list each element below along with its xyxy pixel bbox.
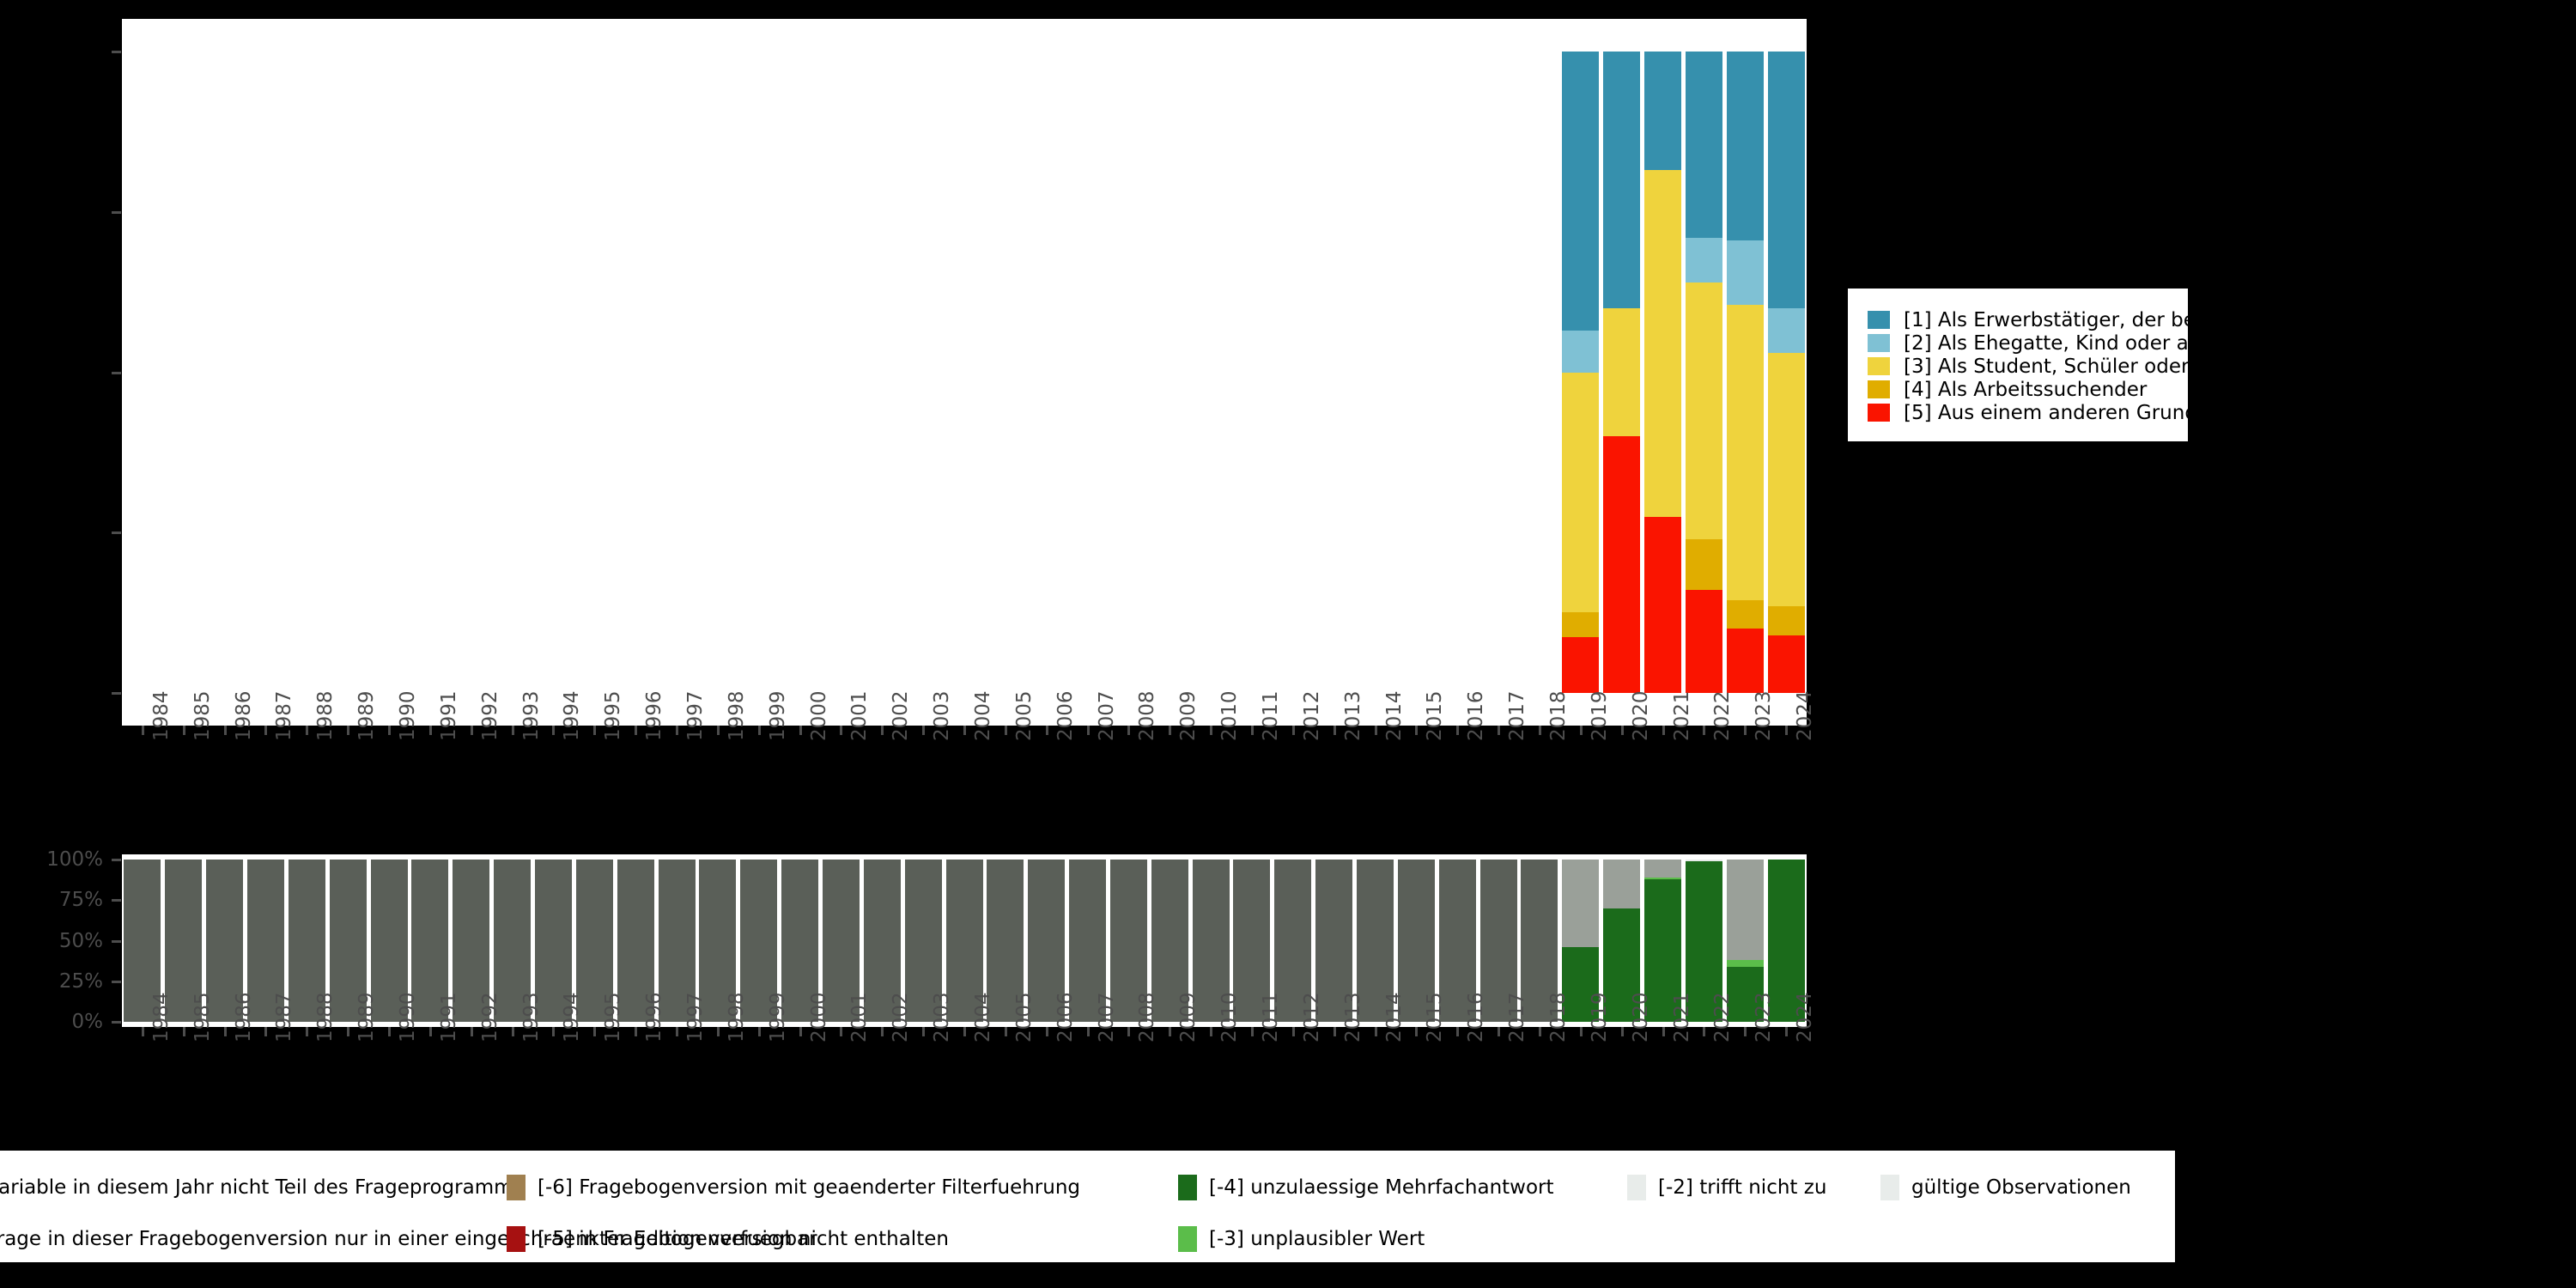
x-axis-tick-label: 2002: [890, 690, 912, 741]
obs-x-axis-tick-label: 1993: [520, 992, 543, 1042]
x-axis-tick-label: 2020: [1630, 690, 1652, 741]
obs-x-axis-tick-label: 2004: [972, 992, 994, 1042]
obs-x-axis-tick-mark: [1621, 1027, 1624, 1036]
legend-swatch-icon: [1178, 1226, 1197, 1252]
value-legend-label: [4] Als Arbeitssuchender: [1904, 379, 2147, 401]
obs-x-axis-tick-label: 1996: [643, 992, 665, 1042]
x-axis-tick-label: 1990: [397, 690, 419, 741]
obs-y-axis-tick-label: 100%: [0, 848, 103, 871]
x-axis-tick-label: 1998: [726, 690, 748, 741]
status-legend-label: [-4] unzulaessige Mehrfachantwort: [1209, 1176, 1554, 1199]
x-axis-tick-mark: [1539, 726, 1541, 735]
x-axis-tick-label: 2011: [1260, 690, 1282, 741]
value-bar-segment: [1727, 629, 1764, 693]
status-legend-label: gültige Observationen: [1911, 1176, 2131, 1199]
obs-x-axis-tick-label: 2005: [1013, 992, 1036, 1042]
value-legend: [1] Als Erwerbstätiger, der bereits eine…: [1848, 289, 2188, 441]
obs-x-axis-tick-mark: [840, 1027, 842, 1036]
x-axis-tick-label: 2012: [1301, 690, 1323, 741]
status-legend-label: [-3] unplausibler Wert: [1209, 1228, 1425, 1250]
status-bar-segment: [1562, 860, 1599, 947]
x-axis-tick-mark: [1744, 726, 1747, 735]
x-axis-tick-label: 2017: [1506, 690, 1528, 741]
x-axis-tick-mark: [512, 726, 514, 735]
x-axis-tick-label: 2003: [931, 690, 953, 741]
obs-x-axis-tick-mark: [1785, 1027, 1788, 1036]
obs-y-axis-tick-label: 75%: [0, 889, 103, 911]
status-legend-label: [-7] Variable in diesem Jahr nicht Teil …: [0, 1176, 523, 1199]
x-axis-tick-mark: [676, 726, 678, 735]
obs-x-axis-tick-mark: [552, 1027, 555, 1036]
obs-x-axis-tick-mark: [1087, 1027, 1090, 1036]
observation-status-chart: 100%75%50%25%0% 198419851986198719881989…: [0, 824, 1838, 1108]
obs-x-axis-tick-mark: [1375, 1027, 1377, 1036]
x-axis-tick-mark: [142, 726, 144, 735]
obs-x-axis-tick-mark: [1662, 1027, 1665, 1036]
obs-x-axis-tick-mark: [429, 1027, 432, 1036]
obs-x-axis-tick-label: 1994: [561, 992, 583, 1042]
obs-x-axis-tick-label: 2020: [1630, 992, 1652, 1042]
x-axis-tick-mark: [1210, 726, 1212, 735]
value-bar-segment: [1727, 600, 1764, 629]
x-axis-tick-label: 1984: [150, 690, 173, 741]
obs-x-axis-tick-label: 1995: [602, 992, 624, 1042]
obs-x-axis-tick-mark: [1415, 1027, 1418, 1036]
x-axis-tick-mark: [1087, 726, 1090, 735]
value-bar: [1603, 52, 1640, 693]
obs-x-axis-tick-mark: [1292, 1027, 1295, 1036]
x-axis-tick-label: 2021: [1671, 690, 1693, 741]
obs-y-axis-tick-label: 50%: [0, 930, 103, 952]
value-bar-segment: [1686, 539, 1722, 591]
status-legend-item[interactable]: [-3] unplausibler Wert: [1178, 1226, 1425, 1252]
value-bar-segment: [1562, 52, 1599, 331]
value-bar-segment: [1768, 635, 1805, 693]
x-axis-tick-label: 2009: [1177, 690, 1200, 741]
x-axis-tick-label: 1985: [191, 690, 214, 741]
value-legend-item[interactable]: [4] Als Arbeitssuchender: [1868, 379, 2147, 400]
legend-swatch-icon: [1868, 311, 1890, 329]
legend-swatch-icon: [1627, 1175, 1646, 1200]
x-axis-tick-label: 2023: [1753, 690, 1775, 741]
x-axis-tick-mark: [1292, 726, 1295, 735]
x-axis-tick-mark: [552, 726, 555, 735]
x-axis-tick-label: 1986: [233, 690, 255, 741]
obs-x-axis-tick-mark: [1210, 1027, 1212, 1036]
value-bar-segment: [1768, 308, 1805, 353]
obs-x-axis-tick-label: 2002: [890, 992, 912, 1042]
x-axis-tick-mark: [1498, 726, 1500, 735]
y-axis-tick-mark: [112, 211, 121, 214]
obs-x-axis-tick-label: 2008: [1136, 992, 1158, 1042]
value-bar-segment: [1686, 52, 1722, 238]
x-axis-tick-label: 2004: [972, 690, 994, 741]
status-bar-segment: [1727, 860, 1764, 960]
x-axis-tick-label: 2007: [1096, 690, 1118, 741]
obs-x-axis-tick-mark: [799, 1027, 802, 1036]
x-axis-tick-mark: [593, 726, 596, 735]
value-legend-label: [3] Als Student, Schüler oder Auszubilde…: [1904, 355, 2348, 378]
value-bar-segment: [1644, 52, 1681, 170]
x-axis-tick-label: 2006: [1054, 690, 1077, 741]
value-bar-segment: [1686, 283, 1722, 539]
legend-swatch-icon: [507, 1175, 526, 1200]
obs-x-axis-tick-mark: [1539, 1027, 1541, 1036]
x-axis-tick-mark: [388, 726, 391, 735]
status-legend-item[interactable]: gültige Observationen: [1880, 1175, 2131, 1200]
obs-x-axis-tick-label: 2017: [1506, 992, 1528, 1042]
obs-x-axis-tick-label: 2009: [1177, 992, 1200, 1042]
x-axis-tick-label: 1993: [520, 690, 543, 741]
legend-swatch-icon: [1868, 380, 1890, 398]
obs-x-axis-tick-mark: [183, 1027, 185, 1036]
obs-x-axis-tick-mark: [1703, 1027, 1705, 1036]
x-axis-tick-label: 1992: [479, 690, 501, 741]
legend-swatch-icon: [1868, 334, 1890, 352]
obs-x-axis-tick-mark: [963, 1027, 966, 1036]
obs-x-axis-tick-label: 2015: [1424, 992, 1446, 1042]
obs-y-axis-tick-mark: [112, 981, 121, 983]
obs-x-axis-tick-label: 1998: [726, 992, 748, 1042]
x-axis-tick-mark: [1662, 726, 1665, 735]
x-axis-tick-mark: [1005, 726, 1007, 735]
x-axis-tick-mark: [1251, 726, 1254, 735]
obs-x-axis-tick-label: 1985: [191, 992, 214, 1042]
obs-x-axis-tick-label: 2019: [1589, 992, 1611, 1042]
value-bar-segment: [1686, 238, 1722, 283]
obs-x-axis-tick-mark: [306, 1027, 308, 1036]
legend-swatch-icon: [507, 1226, 526, 1252]
x-axis-tick-label: 2015: [1424, 690, 1446, 741]
obs-x-axis-tick-mark: [758, 1027, 761, 1036]
x-axis-tick-mark: [471, 726, 473, 735]
obs-y-axis-tick-mark: [112, 940, 121, 943]
x-axis-tick-label: 1995: [602, 690, 624, 741]
x-axis-tick-mark: [264, 726, 267, 735]
obs-x-axis-tick-label: 1988: [314, 992, 337, 1042]
obs-x-axis-tick-mark: [593, 1027, 596, 1036]
obs-x-axis-tick-mark: [264, 1027, 267, 1036]
value-bar-segment: [1603, 52, 1640, 308]
status-bar-segment: [1686, 860, 1722, 861]
obs-y-axis-tick-label: 0%: [0, 1011, 103, 1033]
status-legend-item[interactable]: [-4] unzulaessige Mehrfachantwort: [1178, 1175, 1554, 1200]
x-axis-tick-mark: [922, 726, 925, 735]
obs-x-axis-tick-label: 1999: [767, 992, 789, 1042]
value-legend-item[interactable]: [1] Als Erwerbstätiger, der bereits eine…: [1868, 309, 2452, 331]
obs-x-axis-tick-mark: [347, 1027, 349, 1036]
x-axis-tick-mark: [840, 726, 842, 735]
obs-x-axis-tick-label: 1992: [479, 992, 501, 1042]
x-axis-tick-label: 1999: [767, 690, 789, 741]
x-axis-tick-label: 1987: [273, 690, 295, 741]
x-axis-tick-label: 2014: [1383, 690, 1406, 741]
value-bar-segment: [1686, 590, 1722, 693]
value-bar: [1768, 52, 1805, 693]
main-bars-container: [122, 19, 1807, 726]
obs-x-axis-tick-label: 2024: [1794, 992, 1816, 1042]
x-axis-tick-mark: [1169, 726, 1171, 735]
status-legend-item[interactable]: [-2] trifft nicht zu: [1627, 1175, 1826, 1200]
x-axis-tick-label: 2022: [1711, 690, 1734, 741]
legend-swatch-icon: [1868, 404, 1890, 422]
obs-x-axis-tick-mark: [1046, 1027, 1048, 1036]
obs-x-axis-tick-mark: [922, 1027, 925, 1036]
value-bar-segment: [1562, 373, 1599, 612]
x-axis-tick-mark: [1415, 726, 1418, 735]
y-axis-tick-mark: [112, 532, 121, 534]
obs-y-axis-tick-mark: [112, 899, 121, 902]
y-axis-tick-mark: [112, 372, 121, 374]
y-axis-tick-mark: [112, 51, 121, 53]
value-bar-segment: [1768, 52, 1805, 308]
obs-x-axis-tick-label: 2000: [808, 992, 830, 1042]
x-axis-tick-mark: [306, 726, 308, 735]
value-bar-segment: [1562, 612, 1599, 637]
obs-x-axis-tick-mark: [1334, 1027, 1336, 1036]
obs-x-axis-tick-mark: [635, 1027, 637, 1036]
status-bar-segment: [1727, 960, 1764, 967]
obs-x-axis-tick-label: 2014: [1383, 992, 1406, 1042]
x-axis-tick-label: 2001: [848, 690, 871, 741]
x-axis-tick-label: 1991: [438, 690, 460, 741]
obs-x-axis-tick-label: 1997: [684, 992, 707, 1042]
obs-x-axis-tick-mark: [512, 1027, 514, 1036]
status-legend-label: [-2] trifft nicht zu: [1658, 1176, 1826, 1199]
x-axis-tick-mark: [1785, 726, 1788, 735]
value-bar-segment: [1727, 240, 1764, 305]
obs-x-axis-tick-label: 2013: [1342, 992, 1364, 1042]
x-axis-tick-mark: [1334, 726, 1336, 735]
x-axis-tick-mark: [717, 726, 720, 735]
obs-x-axis-tick-label: 1989: [355, 992, 378, 1042]
x-axis-tick-mark: [1621, 726, 1624, 735]
obs-x-axis-tick-label: 2007: [1096, 992, 1118, 1042]
value-distribution-chart: 100%75%50%25%0% 198419851986198719881989…: [0, 0, 1838, 841]
x-axis-tick-label: 2000: [808, 690, 830, 741]
x-axis-tick-mark: [1456, 726, 1459, 735]
obs-x-axis-tick-mark: [717, 1027, 720, 1036]
obs-x-axis-tick-mark: [1456, 1027, 1459, 1036]
obs-x-axis-tick-mark: [1005, 1027, 1007, 1036]
x-axis-tick-label: 2005: [1013, 690, 1036, 741]
obs-x-axis-tick-label: 1991: [438, 992, 460, 1042]
obs-x-axis-tick-label: 2023: [1753, 992, 1775, 1042]
value-bar: [1562, 52, 1599, 693]
x-axis-tick-mark: [347, 726, 349, 735]
obs-y-axis-tick-mark: [112, 859, 121, 861]
x-axis-tick-mark: [1580, 726, 1583, 735]
obs-x-axis-tick-label: 2022: [1711, 992, 1734, 1042]
status-bar-segment: [1644, 860, 1681, 878]
obs-x-axis-tick-label: 2001: [848, 992, 871, 1042]
x-axis-tick-label: 2008: [1136, 690, 1158, 741]
value-bar-segment: [1644, 170, 1681, 516]
x-axis-tick-mark: [881, 726, 884, 735]
x-axis-tick-mark: [1127, 726, 1130, 735]
x-axis-tick-label: 1988: [314, 690, 337, 741]
x-axis-tick-label: 2024: [1794, 690, 1816, 741]
x-axis-tick-label: 2018: [1547, 690, 1570, 741]
x-axis-tick-mark: [758, 726, 761, 735]
value-bar-segment: [1603, 436, 1640, 693]
obs-x-axis-tick-label: 1986: [233, 992, 255, 1042]
obs-x-axis-tick-label: 2003: [931, 992, 953, 1042]
status-bar-segment: [1644, 878, 1681, 879]
x-axis-tick-label: 1996: [643, 690, 665, 741]
obs-x-axis-tick-mark: [1580, 1027, 1583, 1036]
obs-x-axis-tick-mark: [224, 1027, 227, 1036]
obs-x-axis-tick-mark: [388, 1027, 391, 1036]
value-legend-item[interactable]: [5] Aus einem anderen Grund: [1868, 402, 2197, 423]
status-legend-item[interactable]: [-7] Variable in diesem Jahr nicht Teil …: [0, 1175, 523, 1200]
value-legend-label: [5] Aus einem anderen Grund: [1904, 402, 2197, 424]
obs-x-axis-tick-mark: [676, 1027, 678, 1036]
status-legend-item[interactable]: [-5] in Fragebogenversion nicht enthalte…: [507, 1226, 949, 1252]
x-axis-tick-label: 1989: [355, 690, 378, 741]
value-legend-label: [1] Als Erwerbstätiger, der bereits eine…: [1904, 309, 2452, 331]
obs-x-axis-tick-mark: [471, 1027, 473, 1036]
x-axis-tick-mark: [635, 726, 637, 735]
obs-x-axis-tick-label: 2018: [1547, 992, 1570, 1042]
obs-x-axis-tick-mark: [1169, 1027, 1171, 1036]
obs-x-axis-tick-mark: [881, 1027, 884, 1036]
obs-x-axis-tick-label: 1990: [397, 992, 419, 1042]
status-legend: [-7] Variable in diesem Jahr nicht Teil …: [0, 1151, 2175, 1262]
obs-x-axis-tick-mark: [1744, 1027, 1747, 1036]
x-axis-tick-mark: [183, 726, 185, 735]
y-axis-tick-mark: [112, 692, 121, 695]
x-axis-tick-mark: [1046, 726, 1048, 735]
status-legend-label: [-5] in Fragebogenversion nicht enthalte…: [538, 1228, 949, 1250]
value-bar: [1686, 52, 1722, 693]
x-axis-tick-label: 2010: [1218, 690, 1241, 741]
x-axis-tick-label: 2013: [1342, 690, 1364, 741]
x-axis-tick-label: 1994: [561, 690, 583, 741]
x-axis-tick-mark: [1703, 726, 1705, 735]
value-bar-segment: [1768, 606, 1805, 635]
value-bar-segment: [1603, 308, 1640, 436]
legend-swatch-icon: [1178, 1175, 1197, 1200]
obs-x-axis-tick-label: 2021: [1671, 992, 1693, 1042]
obs-x-axis-tick-mark: [1498, 1027, 1500, 1036]
obs-x-axis-tick-label: 1984: [150, 992, 173, 1042]
obs-x-axis-tick-mark: [1251, 1027, 1254, 1036]
obs-x-axis-tick-mark: [1127, 1027, 1130, 1036]
value-legend-label: [2] Als Ehegatte, Kind oder anderer Fami…: [1904, 332, 2463, 355]
obs-x-axis-tick-mark: [142, 1027, 144, 1036]
legend-swatch-icon: [1868, 357, 1890, 375]
obs-x-axis-tick-label: 2011: [1260, 992, 1282, 1042]
obs-x-axis-tick-label: 2006: [1054, 992, 1077, 1042]
main-plot-area: [122, 19, 1807, 726]
obs-x-axis-tick-label: 2016: [1465, 992, 1487, 1042]
value-bar: [1644, 52, 1681, 693]
x-axis-tick-mark: [963, 726, 966, 735]
value-legend-item[interactable]: [3] Als Student, Schüler oder Auszubilde…: [1868, 355, 2348, 377]
status-legend-label: [-6] Fragebogenversion mit geaenderter F…: [538, 1176, 1080, 1199]
value-bar-segment: [1727, 52, 1764, 240]
value-bar: [1727, 52, 1764, 693]
value-bar-segment: [1768, 353, 1805, 606]
obs-y-axis-tick-label: 25%: [0, 970, 103, 993]
value-bar-segment: [1644, 517, 1681, 693]
status-bar-segment: [1603, 860, 1640, 908]
x-axis-tick-mark: [224, 726, 227, 735]
x-axis-tick-mark: [429, 726, 432, 735]
x-axis-tick-label: 1997: [684, 690, 707, 741]
legend-swatch-icon: [1880, 1175, 1899, 1200]
obs-x-axis-tick-label: 2012: [1301, 992, 1323, 1042]
x-axis-tick-label: 2016: [1465, 690, 1487, 741]
x-axis-tick-mark: [1375, 726, 1377, 735]
value-bar-segment: [1562, 637, 1599, 693]
status-legend-item[interactable]: [-6] Fragebogenversion mit geaenderter F…: [507, 1175, 1080, 1200]
value-bar-segment: [1562, 331, 1599, 373]
obs-x-axis-tick-label: 1987: [273, 992, 295, 1042]
obs-y-axis-tick-mark: [112, 1021, 121, 1024]
x-axis-tick-mark: [799, 726, 802, 735]
x-axis-tick-label: 2019: [1589, 690, 1611, 741]
value-legend-item[interactable]: [2] Als Ehegatte, Kind oder anderer Fami…: [1868, 332, 2463, 354]
value-bar-segment: [1727, 305, 1764, 600]
obs-x-axis-tick-label: 2010: [1218, 992, 1241, 1042]
